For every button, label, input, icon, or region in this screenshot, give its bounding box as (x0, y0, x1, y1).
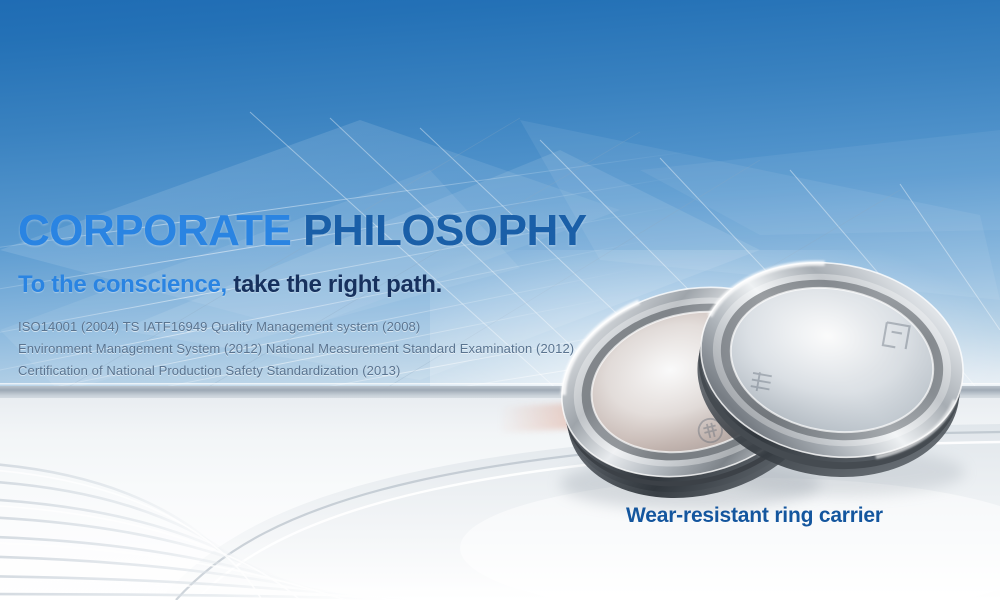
page-subtitle: To the conscience, take the right path. (18, 270, 638, 300)
certification-list: ISO14001 (2004) TS IATF16949 Quality Man… (18, 316, 638, 382)
page-title: CORPORATE PHILOSOPHY (18, 206, 638, 256)
page-title-part-2: PHILOSOPHY (303, 206, 587, 255)
headline-copy-block: CORPORATE PHILOSOPHY To the conscience, … (18, 206, 638, 382)
certification-item: Environment Management System (2012) Nat… (18, 338, 638, 360)
certification-item: ISO14001 (2004) TS IATF16949 Quality Man… (18, 316, 638, 338)
page-subtitle-part-1: To the conscience, (18, 271, 233, 298)
certification-item: Certification of National Production Saf… (18, 360, 638, 382)
corporate-philosophy-banner: CORPORATE PHILOSOPHY To the conscience, … (0, 0, 1000, 600)
page-subtitle-part-2: take the right path. (233, 271, 442, 298)
product-caption: Wear-resistant ring carrier (626, 504, 883, 528)
page-title-part-1: CORPORATE (18, 206, 303, 255)
